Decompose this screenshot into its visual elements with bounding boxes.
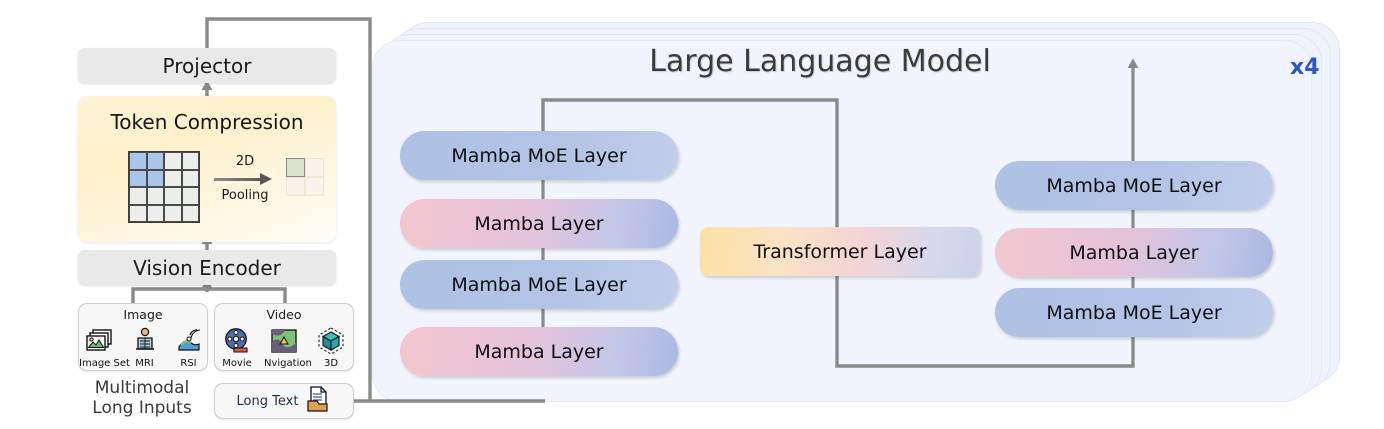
llm-left-layer-4[interactable]: Mamba Layer bbox=[400, 327, 678, 376]
input-label-image-set: Image Set bbox=[79, 358, 119, 369]
pooling-label-top: 2D bbox=[210, 154, 280, 170]
input-item-rsi: RSI bbox=[170, 324, 207, 369]
image-set-icon bbox=[79, 324, 119, 358]
llm-left-layer-2[interactable]: Mamba Layer bbox=[400, 199, 678, 248]
token-grid-input bbox=[128, 151, 200, 223]
video-input-card: Video Movie bbox=[214, 303, 354, 371]
llm-left-layer-3[interactable]: Mamba MoE Layer bbox=[400, 260, 678, 309]
long-text-label: Long Text bbox=[237, 394, 299, 409]
image-card-title: Image bbox=[79, 307, 207, 322]
caption-line-1: Multimodal bbox=[72, 378, 212, 398]
input-label-movie: Movie bbox=[217, 358, 257, 369]
input-item-navigation: Nvigation bbox=[264, 324, 304, 369]
llm-left-layer-1[interactable]: Mamba MoE Layer bbox=[400, 131, 678, 180]
movie-reel-icon bbox=[217, 324, 257, 358]
token-compression-title: Token Compression bbox=[78, 110, 336, 134]
pooling-label-bottom: Pooling bbox=[210, 188, 280, 204]
pooling-arrow-group: 2D Pooling bbox=[210, 154, 280, 205]
token-grid-output bbox=[286, 158, 324, 196]
llm-right-layer-2[interactable]: Mamba Layer bbox=[995, 228, 1273, 277]
diagram-canvas: Large Language Model x4 bbox=[0, 0, 1384, 429]
document-folder-icon bbox=[305, 385, 331, 417]
token-compression-block: Token Compression 2D Pooling bbox=[78, 96, 336, 242]
input-item-image-set: Image Set bbox=[79, 324, 119, 369]
caption-line-2: Long Inputs bbox=[72, 398, 212, 418]
projector-block: Projector bbox=[78, 48, 336, 83]
vision-encoder-block: Vision Encoder bbox=[78, 250, 336, 285]
input-item-mri: MRI bbox=[126, 324, 163, 369]
rsi-satellite-icon bbox=[170, 324, 207, 358]
input-label-mri: MRI bbox=[126, 358, 163, 369]
video-card-title: Video bbox=[215, 307, 353, 322]
llm-title: Large Language Model bbox=[560, 44, 1080, 79]
llm-right-layer-1[interactable]: Mamba MoE Layer bbox=[995, 161, 1273, 210]
input-item-3d: 3D bbox=[311, 324, 351, 369]
cube-3d-icon bbox=[311, 324, 351, 358]
input-item-movie: Movie bbox=[217, 324, 257, 369]
llm-transformer-layer[interactable]: Transformer Layer bbox=[700, 227, 980, 276]
llm-right-layer-3[interactable]: Mamba MoE Layer bbox=[995, 288, 1273, 337]
input-label-3d: 3D bbox=[311, 358, 351, 369]
input-label-navigation: Nvigation bbox=[264, 358, 304, 369]
pooling-arrow-icon bbox=[210, 171, 280, 187]
image-input-card: Image Image Set bbox=[78, 303, 208, 371]
multimodal-inputs-caption: Multimodal Long Inputs bbox=[72, 378, 212, 418]
navigation-map-icon bbox=[264, 324, 304, 358]
long-text-card: Long Text bbox=[214, 383, 354, 419]
repeat-badge: x4 bbox=[1290, 55, 1320, 80]
input-label-rsi: RSI bbox=[170, 358, 207, 369]
mri-icon bbox=[126, 324, 163, 358]
